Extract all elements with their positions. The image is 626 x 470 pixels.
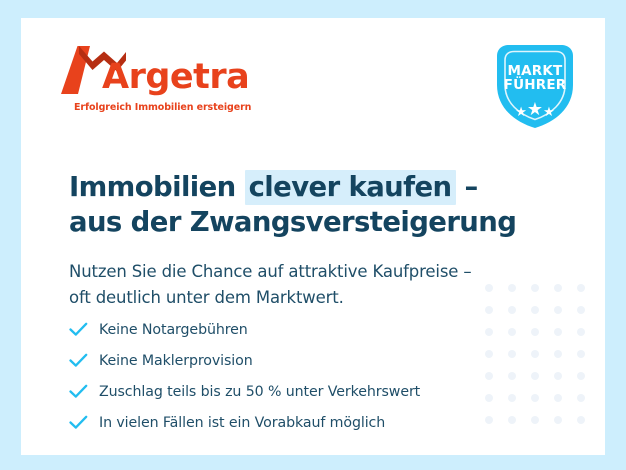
dot	[577, 328, 585, 336]
list-item: Keine Maklerprovision	[69, 345, 529, 376]
dot	[531, 350, 539, 358]
check-icon	[69, 353, 99, 368]
argetra-tagline: Erfolgreich Immobilien ersteigern	[74, 102, 251, 113]
dot	[554, 350, 562, 358]
check-icon	[69, 384, 99, 399]
dot	[554, 416, 562, 424]
content-card: Argetra Erfolgreich Immobilien ersteiger…	[21, 18, 605, 455]
list-item-label: Zuschlag teils bis zu 50 % unter Verkehr…	[99, 384, 420, 400]
list-item-label: Keine Notargebühren	[99, 322, 248, 338]
shield-icon	[493, 40, 577, 132]
dot	[531, 372, 539, 380]
benefits-checklist: Keine Notargebühren Keine Maklerprovisio…	[69, 314, 529, 438]
headline: Immobilien clever kaufen – aus der Zwang…	[69, 170, 539, 239]
headline-text-after: –	[456, 171, 478, 203]
dot	[577, 350, 585, 358]
dot	[577, 306, 585, 314]
subheading-line-2: oft deutlich unter dem Marktwert.	[69, 285, 549, 312]
dot	[554, 328, 562, 336]
dot	[531, 416, 539, 424]
list-item: Zuschlag teils bis zu 50 % unter Verkehr…	[69, 376, 529, 407]
argetra-logo[interactable]: Argetra Erfolgreich Immobilien ersteiger…	[57, 44, 257, 118]
poster-canvas: Argetra Erfolgreich Immobilien ersteiger…	[0, 0, 626, 470]
dot	[577, 416, 585, 424]
check-icon	[69, 322, 99, 337]
dot	[531, 328, 539, 336]
dot	[554, 394, 562, 402]
dot	[554, 372, 562, 380]
list-item-label: In vielen Fällen ist ein Vorabkauf mögli…	[99, 415, 385, 431]
headline-line-2: aus der Zwangsversteigerung	[69, 205, 539, 240]
check-icon	[69, 415, 99, 430]
list-item: In vielen Fällen ist ein Vorabkauf mögli…	[69, 407, 529, 438]
list-item: Keine Notargebühren	[69, 314, 529, 345]
subheading: Nutzen Sie die Chance auf attraktive Kau…	[69, 259, 549, 312]
argetra-wordmark: Argetra	[102, 60, 249, 95]
markt-fuehrer-badge: MARKT FÜHRER ★★★	[493, 40, 577, 132]
dot	[554, 284, 562, 292]
dot	[554, 306, 562, 314]
dot	[577, 284, 585, 292]
headline-text-before: Immobilien	[69, 171, 245, 203]
list-item-label: Keine Maklerprovision	[99, 353, 253, 369]
dot	[577, 394, 585, 402]
headline-line-1: Immobilien clever kaufen –	[69, 170, 539, 205]
subheading-line-1: Nutzen Sie die Chance auf attraktive Kau…	[69, 259, 549, 286]
dot	[577, 372, 585, 380]
headline-highlight: clever kaufen	[245, 170, 456, 205]
dot	[531, 394, 539, 402]
